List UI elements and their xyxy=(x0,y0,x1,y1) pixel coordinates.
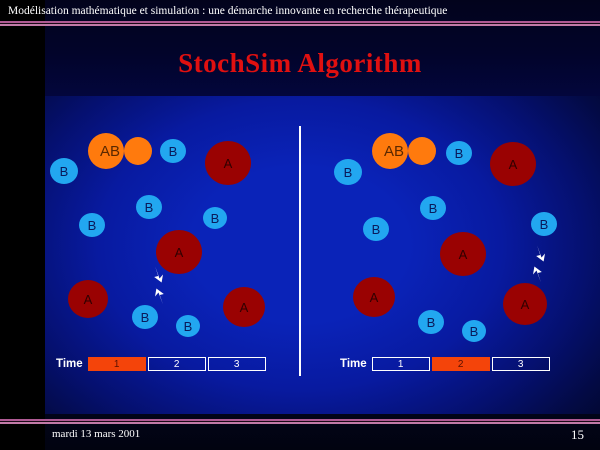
molecule-label: B xyxy=(211,211,220,226)
molecule-label: B xyxy=(427,315,436,330)
molecule-b[interactable]: B xyxy=(160,139,186,163)
molecule-b[interactable]: B xyxy=(363,217,389,241)
molecule-b[interactable]: B xyxy=(176,315,200,337)
molecule-label: B xyxy=(455,146,464,161)
time-bar-label: Time xyxy=(56,358,83,370)
molecule-label: A xyxy=(509,157,518,172)
arrow-up-icon xyxy=(152,285,166,310)
panel-divider xyxy=(299,126,301,376)
time-bar-cells: 123 xyxy=(88,357,268,371)
molecule-label: A xyxy=(175,245,184,260)
molecule-a[interactable]: A xyxy=(490,142,536,186)
molecule-label: A xyxy=(459,247,468,262)
molecule-a[interactable]: A xyxy=(223,287,265,327)
molecule-b[interactable]: B xyxy=(446,141,472,165)
molecule-label: AB xyxy=(372,133,438,169)
footer-divider-rule xyxy=(0,419,600,424)
header-divider-rule xyxy=(0,21,600,26)
molecule-a[interactable]: A xyxy=(353,277,395,317)
time-bar: Time123 xyxy=(340,357,552,371)
molecule-b[interactable]: B xyxy=(462,320,486,342)
time-bar-label: Time xyxy=(340,358,367,370)
molecule-complex-ab[interactable]: AB xyxy=(88,133,154,169)
molecule-b[interactable]: B xyxy=(136,195,162,219)
molecule-label: B xyxy=(540,217,549,232)
molecule-b[interactable]: B xyxy=(418,310,444,334)
molecule-label: B xyxy=(470,324,479,339)
time-bar: Time123 xyxy=(56,357,268,371)
molecule-label: B xyxy=(88,218,97,233)
slide-header-text: Modélisation mathématique et simulation … xyxy=(8,4,568,18)
molecule-label: B xyxy=(60,164,69,179)
molecule-b[interactable]: B xyxy=(203,207,227,229)
molecule-a[interactable]: A xyxy=(205,141,251,185)
molecule-label: B xyxy=(169,144,178,159)
molecule-b[interactable]: B xyxy=(50,158,78,184)
molecule-label: A xyxy=(370,290,379,305)
arrow-up-icon xyxy=(530,263,544,288)
molecule-b[interactable]: B xyxy=(420,196,446,220)
time-step-cell[interactable]: 3 xyxy=(492,357,550,371)
molecule-b[interactable]: B xyxy=(531,212,557,236)
molecule-a[interactable]: A xyxy=(440,232,486,276)
time-step-cell[interactable]: 2 xyxy=(432,357,490,371)
molecule-a[interactable]: A xyxy=(68,280,108,318)
footer-page-number: 15 xyxy=(571,427,584,443)
slide: Modélisation mathématique et simulation … xyxy=(0,0,600,450)
molecule-complex-ab[interactable]: AB xyxy=(372,133,438,169)
molecule-label: B xyxy=(145,200,154,215)
molecule-label: B xyxy=(429,201,438,216)
molecule-label: AB xyxy=(88,133,154,169)
molecule-label: B xyxy=(184,319,193,334)
molecule-label: A xyxy=(84,292,93,307)
molecule-b[interactable]: B xyxy=(79,213,105,237)
page-title: StochSim Algorithm xyxy=(0,48,600,79)
time-step-cell[interactable]: 1 xyxy=(88,357,146,371)
molecule-label: B xyxy=(141,310,150,325)
footer-date: mardi 13 mars 2001 xyxy=(52,428,140,440)
molecule-a[interactable]: A xyxy=(503,283,547,325)
molecule-label: A xyxy=(224,156,233,171)
time-step-cell[interactable]: 2 xyxy=(148,357,206,371)
molecule-label: A xyxy=(240,300,249,315)
molecule-label: A xyxy=(521,297,530,312)
time-step-cell[interactable]: 1 xyxy=(372,357,430,371)
molecule-label: B xyxy=(372,222,381,237)
molecule-label: B xyxy=(344,165,353,180)
time-bar-cells: 123 xyxy=(372,357,552,371)
molecule-b[interactable]: B xyxy=(334,159,362,185)
time-step-cell[interactable]: 3 xyxy=(208,357,266,371)
